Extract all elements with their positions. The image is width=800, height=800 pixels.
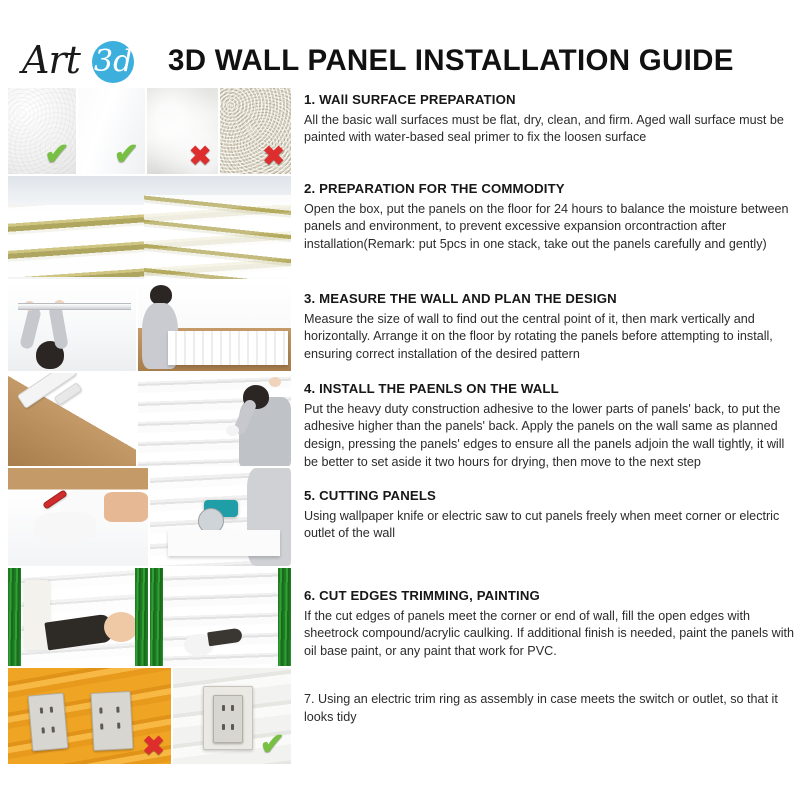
photo-row-panel-stack — [8, 176, 291, 279]
step-4-body: Put the heavy duty construction adhesive… — [304, 401, 796, 473]
gloved-hand — [226, 425, 239, 436]
photo-stack-of-panels-on-floor — [8, 176, 291, 279]
step-5-body: Using wallpaper knife or electric saw to… — [304, 508, 796, 544]
photo-row-outlets: ✖ ✔ — [8, 668, 291, 764]
person-hand-right — [54, 300, 65, 310]
page-title: 3D WALL PANEL INSTALLATION GUIDE — [168, 44, 734, 78]
outlet-plate — [213, 695, 243, 743]
step-7: 7. Using an electric trim ring as assemb… — [304, 690, 796, 727]
logo-text-art: Art — [22, 38, 80, 82]
step-3-body: Measure the size of wall to find out the… — [304, 311, 796, 365]
check-icon: ✔ — [44, 140, 69, 170]
grass-border-right-icon — [135, 568, 148, 666]
thumb — [104, 612, 138, 642]
outlet-plate-right — [91, 691, 134, 751]
grass-border-left-icon — [8, 568, 21, 666]
photo-row-cutting-panels — [8, 468, 291, 566]
step-6-heading: 6. CUT EDGES TRIMMING, PAINTING — [304, 588, 796, 605]
person-hand-left — [24, 301, 35, 311]
photo-cutting-panel-with-wallpaper-knife — [8, 468, 148, 566]
panel-being-cut — [168, 530, 280, 556]
check-icon: ✔ — [114, 140, 139, 170]
photo-row-measure-plan — [8, 281, 291, 371]
step-5: 5. CUTTING PANELS Using wallpaper knife … — [304, 488, 796, 543]
photo-glossy-flat-wall-good: ✔ — [78, 88, 146, 174]
step-1: 1. WAll SURFACE PREPARATION All the basi… — [304, 92, 796, 147]
trowel-icon — [44, 614, 113, 651]
photo-trimming-cut-edge-with-trowel — [8, 568, 148, 666]
photo-row-wall-surfaces: ✔ ✔ ✖ ✖ — [8, 88, 291, 174]
step-7-body: 7. Using an electric trim ring as assemb… — [304, 690, 796, 727]
step-6-body: If the cut edges of panels meet the corn… — [304, 608, 796, 662]
step-3-heading: 3. MEASURE THE WALL AND PLAN THE DESIGN — [304, 291, 796, 308]
photo-outlets-without-trim-ring-bad: ✖ — [8, 668, 171, 764]
photo-outlet-with-trim-ring-good: ✔ — [173, 668, 291, 764]
photo-worker-installing-panel-on-wall — [138, 373, 291, 466]
outlet-plate-left — [28, 693, 69, 752]
photo-cutting-panel-with-electric-saw — [150, 468, 291, 566]
cross-icon: ✖ — [189, 143, 212, 170]
photo-column: ✔ ✔ ✖ ✖ — [8, 88, 291, 764]
person-head — [150, 285, 172, 305]
logo-text-3d: 3d — [94, 44, 132, 79]
page-header: Art 3d 3D WALL PANEL INSTALLATION GUIDE — [0, 0, 800, 88]
grass-border-left-icon — [150, 568, 163, 666]
photo-rough-stucco-wall-bad: ✖ — [220, 88, 291, 174]
step-2-heading: 2. PREPARATION FOR THE COMMODITY — [304, 181, 796, 198]
electric-trim-ring — [203, 686, 253, 750]
photo-row-install-panels — [8, 373, 291, 466]
step-1-body: All the basic wall surfaces must be flat… — [304, 112, 796, 148]
photo-worker-arranging-panels-on-floor — [138, 281, 291, 371]
photo-smoothing-caulking-on-panel — [150, 568, 291, 666]
putty-knife-icon — [207, 628, 243, 647]
step-5-heading: 5. CUTTING PANELS — [304, 488, 796, 505]
step-4-heading: 4. INSTALL THE PAENLS ON THE WALL — [304, 381, 796, 398]
person-hand — [269, 377, 281, 387]
photo-worker-measuring-wall-with-tape — [8, 281, 136, 371]
check-icon: ✔ — [260, 730, 285, 760]
photo-row-edge-trimming — [8, 568, 291, 666]
step-2-body: Open the box, put the panels on the floo… — [304, 201, 796, 255]
step-1-heading: 1. WAll SURFACE PREPARATION — [304, 92, 796, 109]
panel-on-floor — [168, 331, 288, 365]
step-6: 6. CUT EDGES TRIMMING, PAINTING If the c… — [304, 588, 796, 661]
photo-applying-adhesive-to-panel-back — [8, 373, 136, 466]
forearm — [104, 492, 148, 522]
cross-icon: ✖ — [262, 143, 285, 170]
step-4: 4. INSTALL THE PAENLS ON THE WALL Put th… — [304, 381, 796, 472]
photo-peeling-plaster-wall-bad: ✖ — [147, 88, 217, 174]
cross-icon: ✖ — [142, 733, 165, 760]
person-arm-left — [19, 306, 42, 350]
step-2: 2. PREPARATION FOR THE COMMODITY Open th… — [304, 181, 796, 254]
gloved-hand-left — [34, 512, 96, 542]
brand-logo: Art 3d — [22, 36, 162, 86]
step-3: 3. MEASURE THE WALL AND PLAN THE DESIGN … — [304, 291, 796, 364]
photo-smooth-painted-wall-good: ✔ — [8, 88, 76, 174]
grass-border-right-icon — [278, 568, 291, 666]
